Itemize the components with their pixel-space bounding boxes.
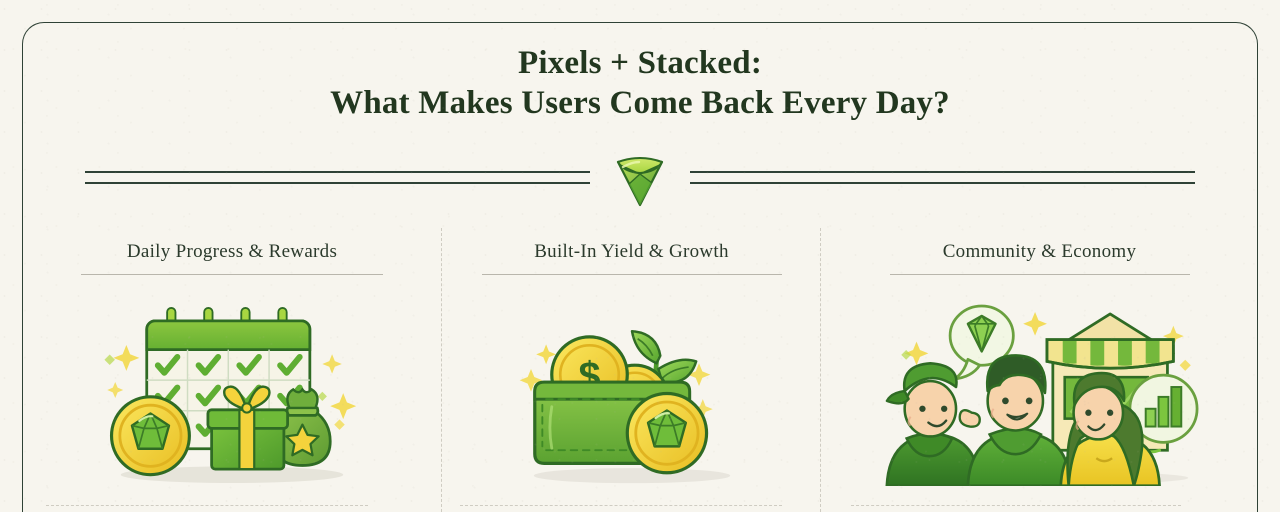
- column-heading-community-economy: Community & Economy: [837, 241, 1242, 263]
- column-foot-rule: [460, 505, 782, 506]
- page-title-line-1: Pixels + Stacked:: [0, 44, 1280, 83]
- column-community-economy: Community & Economy: [821, 224, 1258, 512]
- column-heading-rule: [482, 274, 782, 275]
- column-foot-rule: [46, 505, 368, 506]
- illustration-community-economy: [821, 296, 1258, 486]
- column-built-in-yield: Built-In Yield & Growth: [442, 224, 821, 512]
- gem-icon: [609, 156, 671, 208]
- column-heading-built-in-yield: Built-In Yield & Growth: [458, 241, 805, 263]
- gem-coin: [112, 397, 190, 475]
- illustration-calendar-rewards: [22, 296, 442, 486]
- ornamental-divider: [85, 158, 1195, 210]
- column-heading-rule: [81, 274, 383, 275]
- column-foot-rule: [851, 505, 1181, 506]
- divider-rule-right: [690, 171, 1195, 183]
- illustration-wallet-growth: $ $: [442, 296, 821, 486]
- column-heading-daily-progress: Daily Progress & Rewards: [38, 241, 426, 263]
- page-header: Pixels + Stacked: What Makes Users Come …: [0, 44, 1280, 125]
- column-heading-rule: [890, 274, 1190, 275]
- divider-rule-left: [85, 171, 590, 183]
- page-title-line-2: What Makes Users Come Back Every Day?: [0, 83, 1280, 125]
- column-daily-progress: Daily Progress & Rewards: [22, 224, 442, 512]
- gem-coin: [627, 394, 706, 473]
- feature-columns: Daily Progress & Rewards: [22, 224, 1258, 512]
